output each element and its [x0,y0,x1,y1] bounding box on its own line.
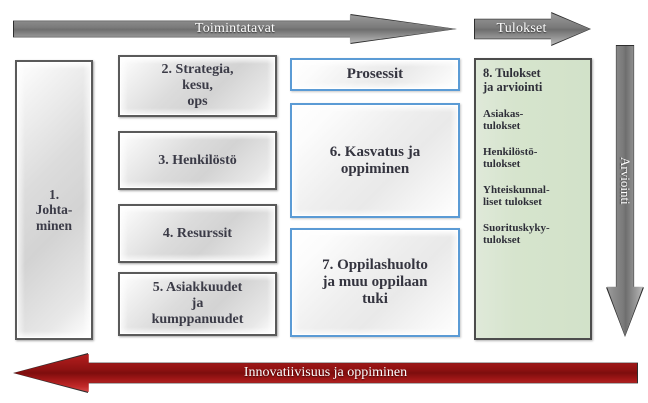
arrow-arviointi: Arviointi [607,46,643,336]
arrow-toimintatavat: Toimintatavat [14,15,456,43]
box-strategy-label: 2. Strategia, kesu, ops [120,62,275,109]
arrow-tulokset-label: Tulokset [496,21,546,37]
box-resources-label: 4. Resurssit [120,226,275,242]
arrow-tulokset: Tulokset [475,13,590,45]
box-leadership-label: 1. Johta- minen [17,187,91,232]
box-leadership[interactable]: 1. Johta- minen [15,60,93,340]
box-customers-partners[interactable]: 5. Asiakkuudet ja kumppanuudet [118,272,277,336]
box-processes-header-label: Prosessit [292,66,458,83]
diagram-canvas: Toimintatavat Tulokset 1. Johta- minen 2… [0,0,648,403]
box-strategy[interactable]: 2. Strategia, kesu, ops [118,55,277,117]
panel-results-item-societal: Yhteiskunnal- liset tulokset [483,184,583,209]
box-education-learning-label: 6. Kasvatus ja oppiminen [292,144,458,178]
arrow-innovation-label: Innovatiivisuus ja oppiminen [244,365,407,381]
panel-results[interactable]: 8. Tulokset ja arviointi Asiakas- tuloks… [474,58,592,340]
arrow-arviointi-label: Arviointi [617,157,633,205]
panel-results-title: 8. Tulokset ja arviointi [483,66,583,95]
panel-results-item-customer: Asiakas- tulokset [483,108,583,133]
box-education-learning[interactable]: 6. Kasvatus ja oppiminen [290,103,460,218]
box-processes-header[interactable]: Prosessit [290,58,460,91]
box-personnel-label: 3. Henkilöstö [120,153,275,169]
box-student-welfare[interactable]: 7. Oppilashuolto ja muu oppilaan tuki [290,228,460,337]
arrow-innovation: Innovatiivisuus ja oppiminen [14,354,637,392]
panel-results-item-personnel: Henkilöstö- tulokset [483,146,583,171]
box-resources[interactable]: 4. Resurssit [118,204,277,263]
box-personnel[interactable]: 3. Henkilöstö [118,131,277,190]
arrow-toimintatavat-label: Toimintatavat [195,21,275,37]
box-student-welfare-label: 7. Oppilashuolto ja muu oppilaan tuki [292,257,458,307]
box-customers-partners-label: 5. Asiakkuudet ja kumppanuudet [120,280,275,327]
panel-results-item-performance: Suorituskyky- tulokset [483,222,583,247]
